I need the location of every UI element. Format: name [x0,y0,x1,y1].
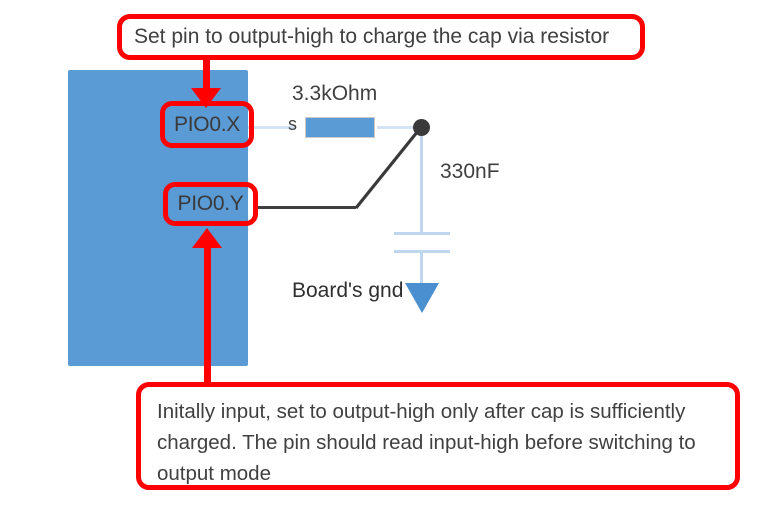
callout-bottom-text: Initally input, set to output-high only … [157,400,696,485]
ground-label: Board's gnd [292,279,403,303]
capacitor-plate-top [394,232,450,235]
circuit-diagram-canvas: s 3.3kOhm 330nF Board's gnd PIO0.X PIO0.… [0,0,777,526]
resistor-value-label: 3.3kOhm [292,82,377,106]
pin-label-pio0y: PIO0.Y [178,192,244,216]
annotation-arrow-bottom-shaft [204,240,211,385]
ground-symbol-icon [405,283,439,313]
capacitor-plate-bottom [394,250,450,253]
pin-highlight-pio0y: PIO0.Y [163,182,258,226]
wire-pin-y-to-switch [255,206,356,209]
pin-label-pio0x: PIO0.X [174,113,240,137]
callout-box-bottom: Initally input, set to output-high only … [136,382,740,490]
annotation-arrow-down-icon [191,88,221,108]
callout-box-top: Set pin to output-high to charge the cap… [117,14,645,60]
pin-highlight-pio0x: PIO0.X [160,101,254,148]
callout-top-text: Set pin to output-high to charge the cap… [134,25,609,49]
annotation-arrow-up-icon [192,228,222,248]
capacitor-value-label: 330nF [440,160,500,184]
annotation-arrow-top-shaft [203,56,210,92]
junction-node-dot [413,119,430,136]
resistor-terminal-label: s [288,114,297,135]
